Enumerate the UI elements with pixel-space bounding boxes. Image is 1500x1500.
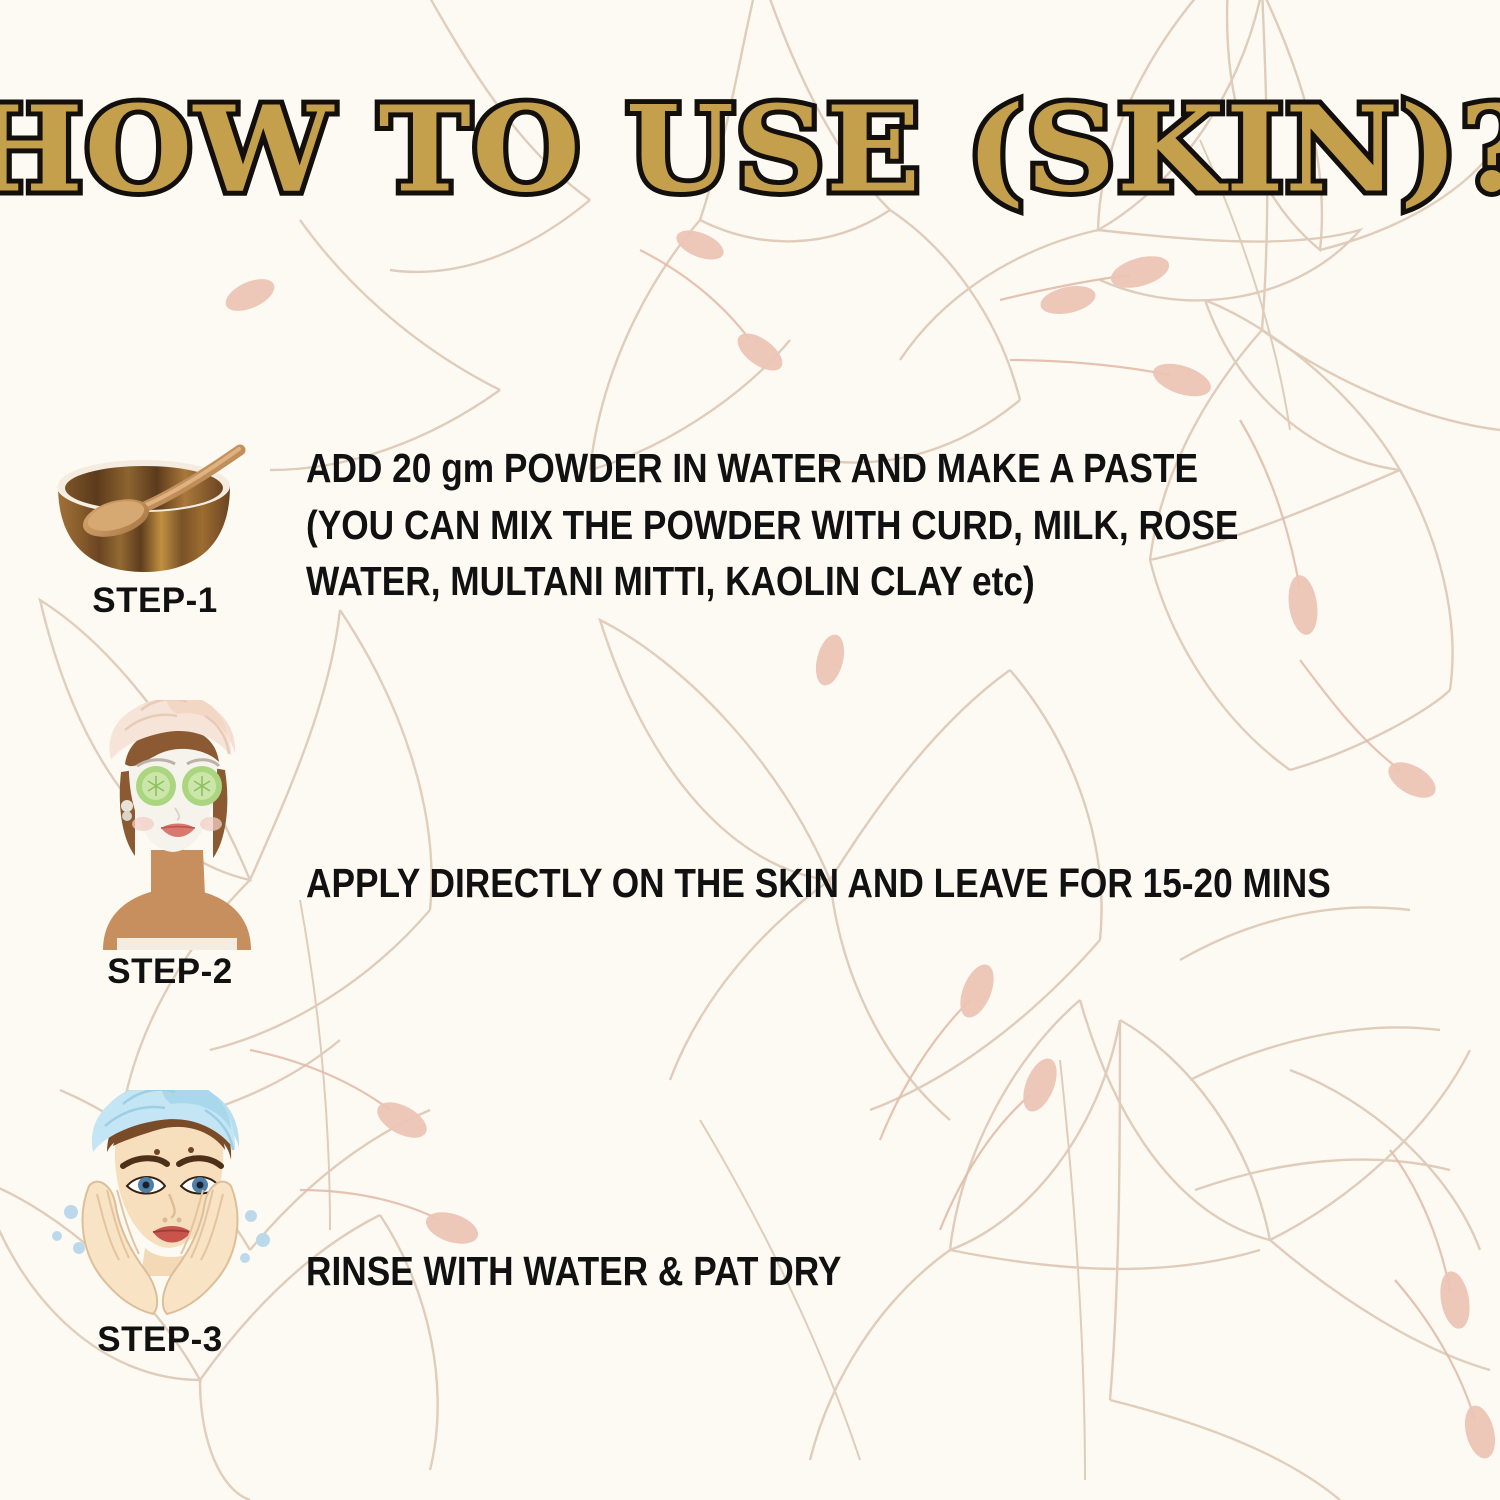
page-title: HOW TO USE (SKIN)? — [0, 96, 1500, 205]
step-3-text: RINSE WITH WATER & PAT DRY — [306, 1243, 1500, 1300]
step-2-label: STEP-2 — [55, 952, 285, 992]
step-3-label: STEP-3 — [45, 1320, 275, 1360]
step-1-label: STEP-1 — [40, 581, 270, 621]
woman-washing-face-icon — [45, 1090, 275, 1318]
step-2-text: APPLY DIRECTLY ON THE SKIN AND LEAVE FOR… — [306, 855, 1500, 912]
step-1-icon-column: STEP-1 — [40, 444, 270, 621]
step-3-icon-column: STEP-3 — [45, 1090, 275, 1360]
woman-face-mask-cucumber-icon — [55, 700, 285, 950]
step-1-text: ADD 20 gm POWDER IN WATER AND MAKE A PAS… — [306, 440, 1500, 610]
page-title-text: HOW TO USE (SKIN)? — [0, 91, 1500, 211]
step-2-icon-column: STEP-2 — [55, 700, 285, 992]
instruction-poster: HOW TO USE (SKIN)? — [0, 0, 1500, 1500]
wooden-bowl-with-spoon-icon — [40, 444, 270, 579]
